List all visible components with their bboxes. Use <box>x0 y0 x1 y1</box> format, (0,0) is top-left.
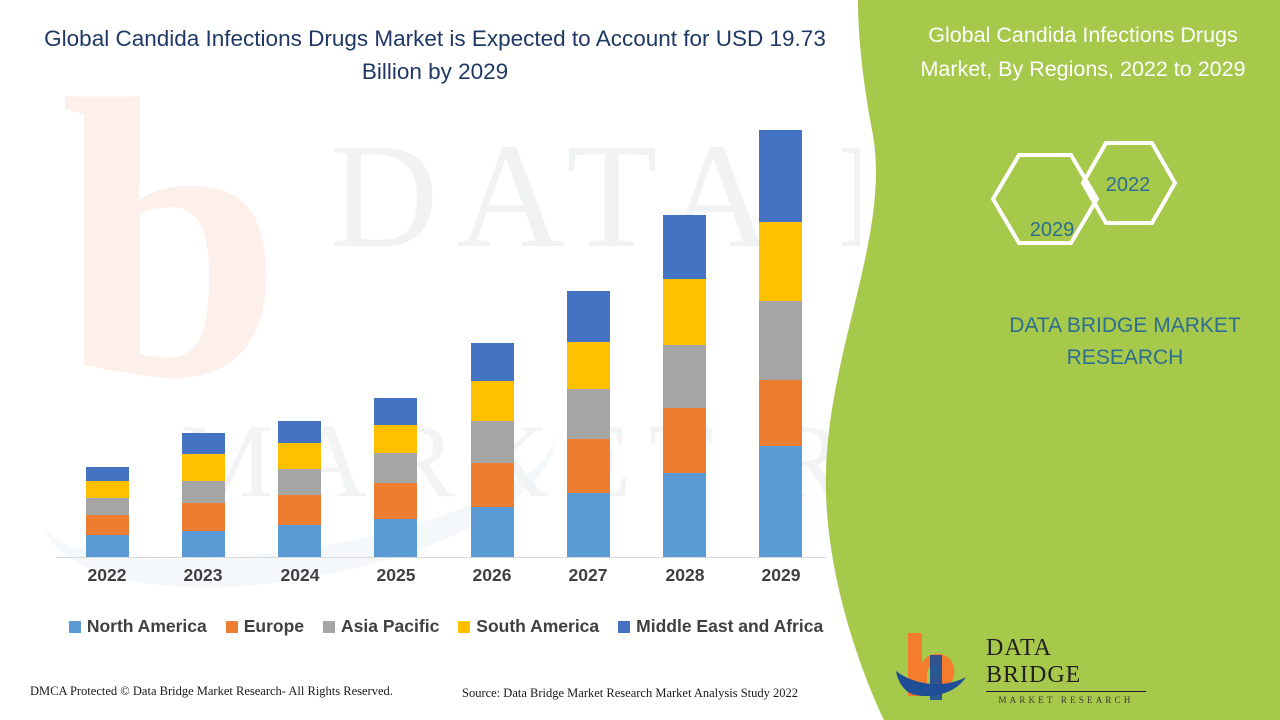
hexagon-2029-label: 2029 <box>1019 219 1085 242</box>
stacked-bar-chart <box>56 130 826 558</box>
x-axis-tick-labels: 20222023202420252026202720282029 <box>56 565 826 595</box>
bar-segment <box>278 421 321 443</box>
x-tick-label-2022: 2022 <box>72 565 142 586</box>
bar-segment <box>278 469 321 495</box>
bar-segment <box>663 408 706 473</box>
bar-segment <box>374 519 417 558</box>
bar-segment <box>471 507 514 558</box>
bar-segment <box>567 493 610 558</box>
bar-segment <box>567 342 610 389</box>
panel-heading: Global Candida Infections Drugs Market, … <box>900 18 1266 86</box>
source-note: Source: Data Bridge Market Research Mark… <box>462 686 798 701</box>
bar-segment <box>759 222 802 301</box>
bar-column-2029 <box>759 130 802 558</box>
bar-column-2025 <box>374 398 417 558</box>
brand-name: DATA BRIDGE MARKET RESEARCH <box>980 310 1270 374</box>
page-title: Global Candida Infections Drugs Market i… <box>30 22 840 88</box>
bar-segment <box>182 454 225 481</box>
bar-column-2026 <box>471 343 514 558</box>
hexagon-2022-label: 2022 <box>1095 174 1161 197</box>
bar-column-2022 <box>86 467 129 558</box>
bar-segment <box>278 443 321 469</box>
legend-swatch-icon <box>323 621 335 633</box>
legend-label: Europe <box>244 616 304 637</box>
bar-segment <box>86 498 129 514</box>
bar-segment <box>278 495 321 525</box>
legend-item[interactable]: Middle East and Africa <box>618 616 823 637</box>
legend-swatch-icon <box>226 621 238 633</box>
bar-segment <box>663 473 706 558</box>
bar-column-2024 <box>278 421 321 558</box>
legend-swatch-icon <box>69 621 81 633</box>
bar-segment <box>86 535 129 558</box>
bar-segment <box>182 503 225 531</box>
bar-segment <box>471 343 514 381</box>
bar-segment <box>374 425 417 453</box>
chart-legend: North AmericaEuropeAsia PacificSouth Ame… <box>56 616 836 637</box>
bar-segment <box>567 389 610 439</box>
bar-segment <box>759 380 802 446</box>
legend-item[interactable]: North America <box>69 616 207 637</box>
hexagon-badges <box>975 135 1185 265</box>
data-bridge-logo: DATA BRIDGE MARKET RESEARCH <box>890 625 1140 700</box>
legend-label: Middle East and Africa <box>636 616 823 637</box>
dmca-notice: DMCA Protected © Data Bridge Market Rese… <box>30 684 393 699</box>
legend-item[interactable]: Europe <box>226 616 304 637</box>
legend-item[interactable]: Asia Pacific <box>323 616 439 637</box>
x-axis-line <box>56 557 826 558</box>
bar-segment <box>86 481 129 498</box>
logo-subtitle: MARKET RESEARCH <box>986 695 1146 705</box>
bar-segment <box>759 130 802 222</box>
bar-segment <box>663 345 706 408</box>
bar-segment <box>471 381 514 421</box>
x-tick-label-2026: 2026 <box>457 565 527 586</box>
x-tick-label-2029: 2029 <box>746 565 816 586</box>
bar-segment <box>471 421 514 462</box>
bar-segment <box>182 531 225 558</box>
legend-item[interactable]: South America <box>458 616 599 637</box>
logo-wordmark: DATA BRIDGE MARKET RESEARCH <box>986 635 1146 705</box>
bar-segment <box>759 446 802 558</box>
legend-swatch-icon <box>618 621 630 633</box>
bar-segment <box>759 301 802 380</box>
logo-title: DATA BRIDGE <box>986 635 1146 692</box>
logo-b-mark-icon <box>890 625 980 700</box>
x-tick-label-2023: 2023 <box>168 565 238 586</box>
x-tick-label-2024: 2024 <box>265 565 335 586</box>
x-tick-label-2027: 2027 <box>553 565 623 586</box>
legend-label: South America <box>476 616 599 637</box>
bar-column-2028 <box>663 215 706 558</box>
bar-segment <box>471 463 514 507</box>
bar-segment <box>182 481 225 503</box>
bar-segment <box>374 398 417 425</box>
bar-column-2023 <box>182 433 225 558</box>
bar-column-2027 <box>567 291 610 558</box>
x-tick-label-2028: 2028 <box>650 565 720 586</box>
bar-segment <box>567 291 610 342</box>
x-tick-label-2025: 2025 <box>361 565 431 586</box>
bar-segment <box>278 525 321 558</box>
bar-segment <box>86 467 129 481</box>
bar-segment <box>567 439 610 493</box>
bar-segment <box>374 453 417 483</box>
legend-label: Asia Pacific <box>341 616 439 637</box>
legend-label: North America <box>87 616 207 637</box>
bar-segment <box>663 215 706 279</box>
bar-segment <box>663 279 706 345</box>
bar-segment <box>86 515 129 536</box>
legend-swatch-icon <box>458 621 470 633</box>
bar-segment <box>182 433 225 454</box>
bar-segment <box>374 483 417 519</box>
